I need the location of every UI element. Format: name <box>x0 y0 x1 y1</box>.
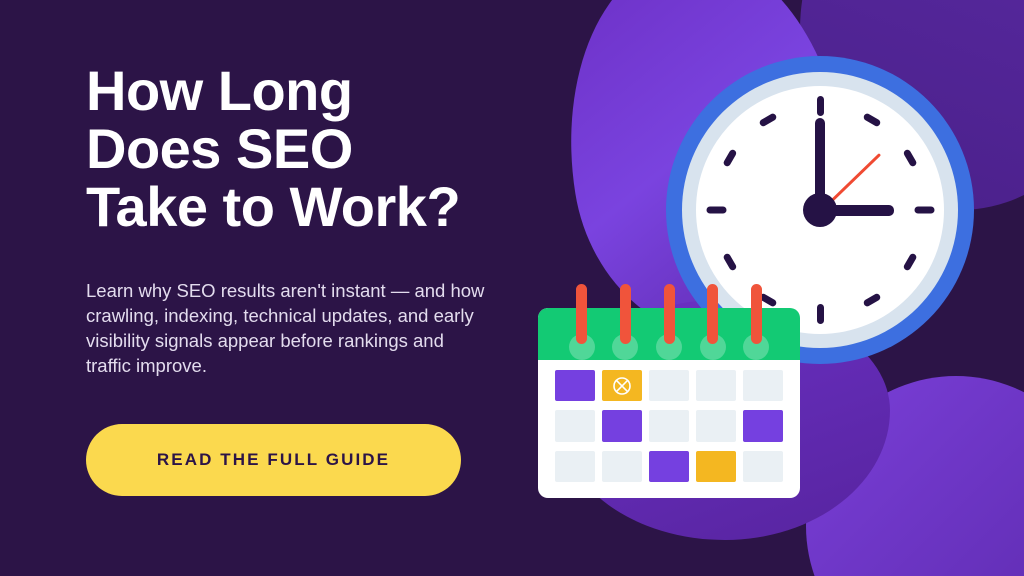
calendar-day-grid <box>555 370 783 482</box>
calendar-illustration <box>538 308 800 498</box>
calendar-day-cell-r2c4 <box>696 410 736 441</box>
subheading-text: Learn why SEO results aren't instant — a… <box>86 278 486 378</box>
calendar-pin <box>751 284 762 344</box>
calendar-day-cell-r3c4 <box>696 451 736 482</box>
calendar-day-cell-r1c4 <box>696 370 736 401</box>
clock-tick-bar <box>862 112 881 127</box>
clock-tick-bar <box>914 207 934 214</box>
calendar-day-cell-r2c5 <box>743 410 783 441</box>
clock-tick-bar <box>817 304 824 324</box>
calendar-pin <box>664 284 675 344</box>
clock-inner-ring <box>682 72 958 348</box>
clock-tick-bar <box>903 252 918 271</box>
calendar-day-cell-r1c2 <box>602 370 642 401</box>
clock-tick-bar <box>758 112 777 127</box>
calendar-day-cell-r2c1 <box>555 410 595 441</box>
circle-x-icon <box>612 376 632 396</box>
calendar-pin <box>576 284 587 344</box>
promo-banner: How Long Does SEO Take to Work? Learn wh… <box>0 0 1024 576</box>
clock-center-cap <box>803 193 837 227</box>
calendar-day-cell-r3c5 <box>743 451 783 482</box>
clock-tick-bar <box>722 148 737 167</box>
clock-tick-bar <box>903 148 918 167</box>
read-the-full-guide-button[interactable]: READ THE FULL GUIDE <box>86 424 461 496</box>
clock-tick-bar <box>817 96 824 116</box>
clock-tick-bar <box>706 207 726 214</box>
clock-tick-bar <box>722 252 737 271</box>
calendar-day-cell-r3c3 <box>649 451 689 482</box>
clock-tick-bar <box>862 293 881 308</box>
calendar-pin <box>707 284 718 344</box>
calendar-day-cell-r1c1 <box>555 370 595 401</box>
page-title: How Long Does SEO Take to Work? <box>86 62 486 236</box>
calendar-pin <box>620 284 631 344</box>
calendar-day-cell-r3c2 <box>602 451 642 482</box>
calendar-day-cell-r1c3 <box>649 370 689 401</box>
clock-face <box>696 86 944 334</box>
calendar-day-cell-r2c3 <box>649 410 689 441</box>
text-column: How Long Does SEO Take to Work? Learn wh… <box>86 62 486 496</box>
calendar-day-cell-r3c1 <box>555 451 595 482</box>
calendar-day-cell-r2c2 <box>602 410 642 441</box>
calendar-day-cell-r1c5 <box>743 370 783 401</box>
